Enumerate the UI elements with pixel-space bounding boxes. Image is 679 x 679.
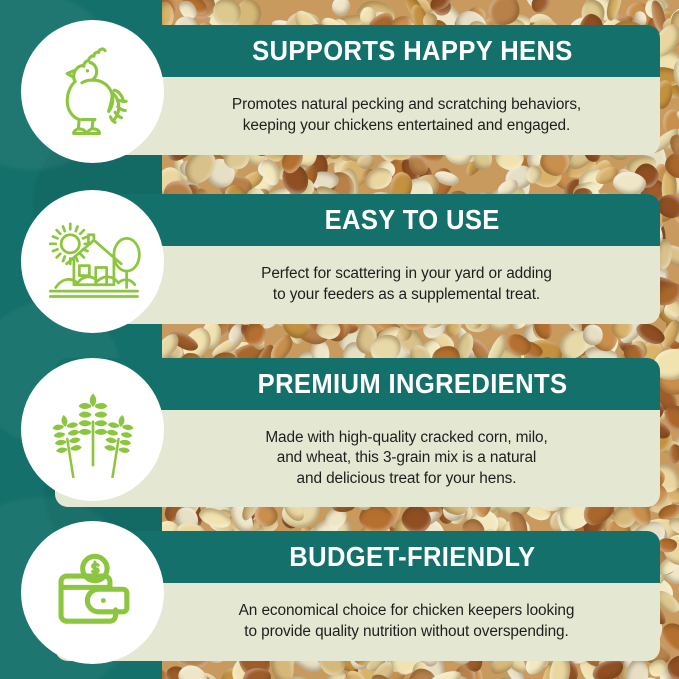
feature-title: SUPPORTS HAPPY HENS	[252, 37, 573, 65]
feature-description: An economical choice for chicken keepers…	[239, 601, 575, 642]
feature-icon-bubble	[21, 190, 164, 333]
feature-title: PREMIUM INGREDIENTS	[258, 370, 568, 398]
feature-title: EASY TO USE	[325, 206, 500, 234]
feature-icon-bubble	[21, 20, 164, 163]
wheat-stalks-icon	[45, 382, 141, 478]
wallet-money-icon	[46, 546, 140, 640]
feature-description: Made with high-quality cracked corn, mil…	[265, 428, 547, 490]
farm-house-sun-icon	[43, 216, 143, 308]
feature-icon-bubble	[21, 521, 164, 664]
feature-title: BUDGET-FRIENDLY	[289, 543, 535, 571]
feature-icon-bubble	[21, 358, 164, 501]
feature-description: Promotes natural pecking and scratching …	[232, 95, 581, 136]
feature-description: Perfect for scattering in your yard or a…	[261, 264, 552, 305]
rooster-icon	[47, 46, 139, 138]
